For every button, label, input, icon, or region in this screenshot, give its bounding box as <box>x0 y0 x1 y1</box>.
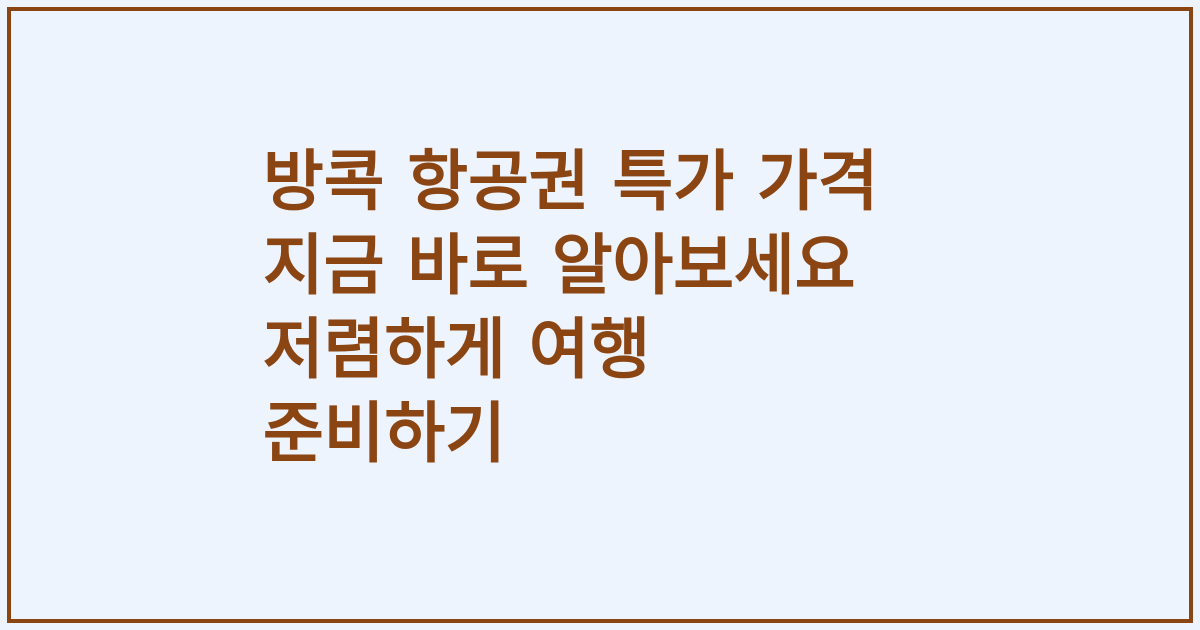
headline-line-2: 지금 바로 알아보세요 <box>263 224 1023 308</box>
headline-line-3: 저렴하게 여행 <box>263 308 1023 392</box>
thumbnail-canvas: 방콕 항공권 특가 가격 지금 바로 알아보세요 저렴하게 여행 준비하기 <box>0 0 1200 630</box>
headline-block: 방콕 항공권 특가 가격 지금 바로 알아보세요 저렴하게 여행 준비하기 <box>263 140 1023 476</box>
headline-line-1: 방콕 항공권 특가 가격 <box>263 140 1023 224</box>
headline-line-4: 준비하기 <box>263 392 1023 476</box>
